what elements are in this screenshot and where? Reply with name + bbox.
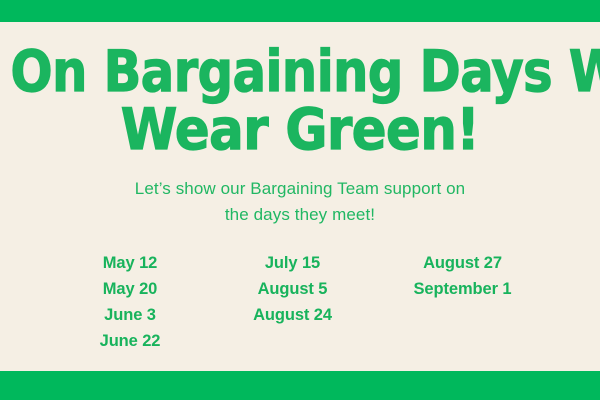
bottom-green-band xyxy=(0,371,600,400)
date-item: August 5 xyxy=(210,276,375,302)
poster-canvas: On Bargaining Days We Wear Green! Let’s … xyxy=(0,0,600,400)
date-item: May 12 xyxy=(50,250,210,276)
date-item: June 3 xyxy=(50,302,210,328)
subtitle-line-2: the days they meet! xyxy=(0,202,600,228)
date-item: June 22 xyxy=(50,328,210,354)
poster-content: On Bargaining Days We Wear Green! Let’s … xyxy=(0,22,600,371)
date-column-3: August 27 September 1 xyxy=(375,250,550,302)
date-column-2: July 15 August 5 August 24 xyxy=(210,250,375,328)
date-list: May 12 May 20 June 3 June 22 July 15 Aug… xyxy=(0,228,600,354)
top-green-band xyxy=(0,0,600,22)
headline-line-1: On Bargaining Days We xyxy=(11,43,590,101)
subtitle: Let’s show our Bargaining Team support o… xyxy=(0,159,600,228)
page-title: On Bargaining Days We Wear Green! xyxy=(0,22,600,159)
date-item: August 24 xyxy=(210,302,375,328)
date-item: May 20 xyxy=(50,276,210,302)
headline-line-2: Wear Green! xyxy=(0,101,600,159)
date-item: August 27 xyxy=(375,250,550,276)
subtitle-line-1: Let’s show our Bargaining Team support o… xyxy=(0,176,600,202)
date-item: July 15 xyxy=(210,250,375,276)
date-item: September 1 xyxy=(375,276,550,302)
date-column-1: May 12 May 20 June 3 June 22 xyxy=(50,250,210,354)
